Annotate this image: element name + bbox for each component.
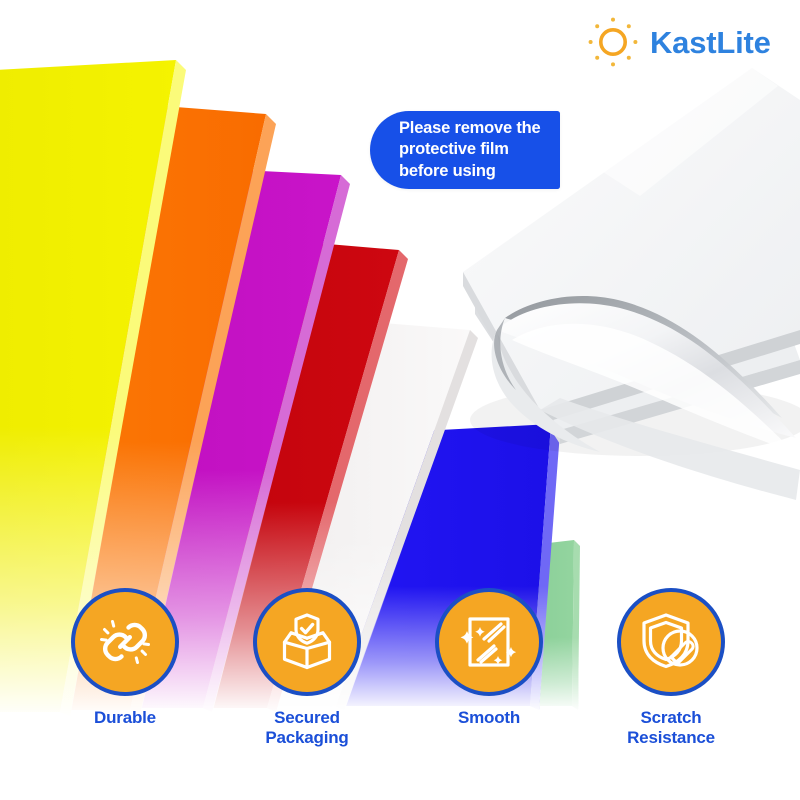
brand-name: KastLite: [650, 27, 771, 58]
product-image: KastLite Please remove the protective fi…: [0, 0, 800, 800]
protective-film-callout: Please remove the protective film before…: [370, 111, 560, 189]
feature-label-line-1: Durable: [35, 708, 215, 728]
feature-label: Smooth: [399, 708, 579, 728]
feature-icon-circle: [617, 588, 725, 696]
feature-badges: Durable Secured Packaging: [0, 588, 800, 768]
shield-blade-icon: [636, 607, 706, 677]
sparkle-panel-icon: [454, 607, 524, 677]
feature-secured-packaging: Secured Packaging: [217, 588, 397, 748]
callout-line-2: protective film: [399, 139, 541, 160]
feature-label-line-2: Packaging: [217, 728, 397, 748]
sun-icon: [586, 15, 640, 69]
callout-text: Please remove the protective film before…: [370, 118, 547, 181]
chain-link-icon: [90, 607, 160, 677]
feature-label: Durable: [35, 708, 215, 728]
feature-icon-circle: [435, 588, 543, 696]
feature-label-line-1: Secured: [217, 708, 397, 728]
feature-label-line-1: Smooth: [399, 708, 579, 728]
feature-label: Secured Packaging: [217, 708, 397, 748]
feature-icon-circle: [253, 588, 361, 696]
feature-label: Scratch Resistance: [581, 708, 761, 748]
shield-box-icon: [272, 607, 342, 677]
feature-scratch-resistance: Scratch Resistance: [581, 588, 761, 748]
feature-icon-circle: [71, 588, 179, 696]
feature-durable: Durable: [35, 588, 215, 728]
feature-label-line-1: Scratch: [581, 708, 761, 728]
feature-label-line-2: Resistance: [581, 728, 761, 748]
callout-line-1: Please remove the: [399, 118, 541, 139]
feature-smooth: Smooth: [399, 588, 579, 728]
brand-logo: KastLite: [586, 14, 786, 70]
callout-line-3: before using: [399, 161, 541, 182]
